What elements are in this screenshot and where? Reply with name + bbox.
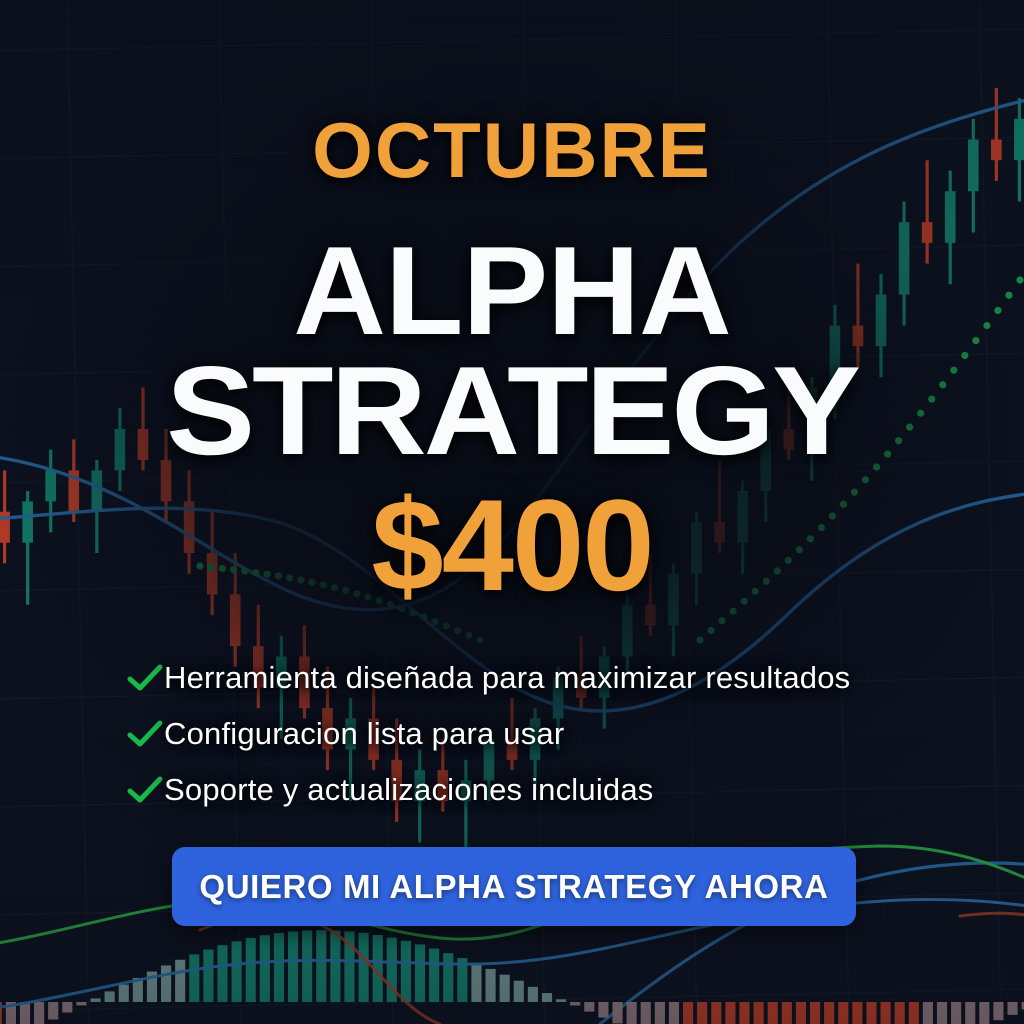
list-item: Configuracion lista para usar (126, 706, 946, 762)
check-icon (126, 663, 164, 693)
check-icon (126, 719, 164, 749)
cta-button[interactable]: QUIERO MI ALPHA STRATEGY AHORA (172, 847, 856, 926)
benefit-label: Configuracion lista para usar (164, 716, 564, 752)
benefit-label: Soporte y actualizaciones incluidas (164, 772, 654, 808)
month-eyebrow: OCTUBRE (0, 108, 1024, 192)
benefit-label: Herramienta diseñada para maximizar resu… (164, 660, 850, 696)
list-item: Herramienta diseñada para maximizar resu… (126, 650, 946, 706)
benefits-list: Herramienta diseñada para maximizar resu… (126, 650, 946, 818)
headline-line-2: STRATEGY (0, 348, 1024, 474)
list-item: Soporte y actualizaciones incluidas (126, 762, 946, 818)
check-icon (126, 775, 164, 805)
price-label: $400 (0, 482, 1024, 608)
headline-line-1: ALPHA (0, 228, 1024, 354)
promo-poster: OCTUBRE ALPHA STRATEGY $400 Herramienta … (0, 0, 1024, 1024)
